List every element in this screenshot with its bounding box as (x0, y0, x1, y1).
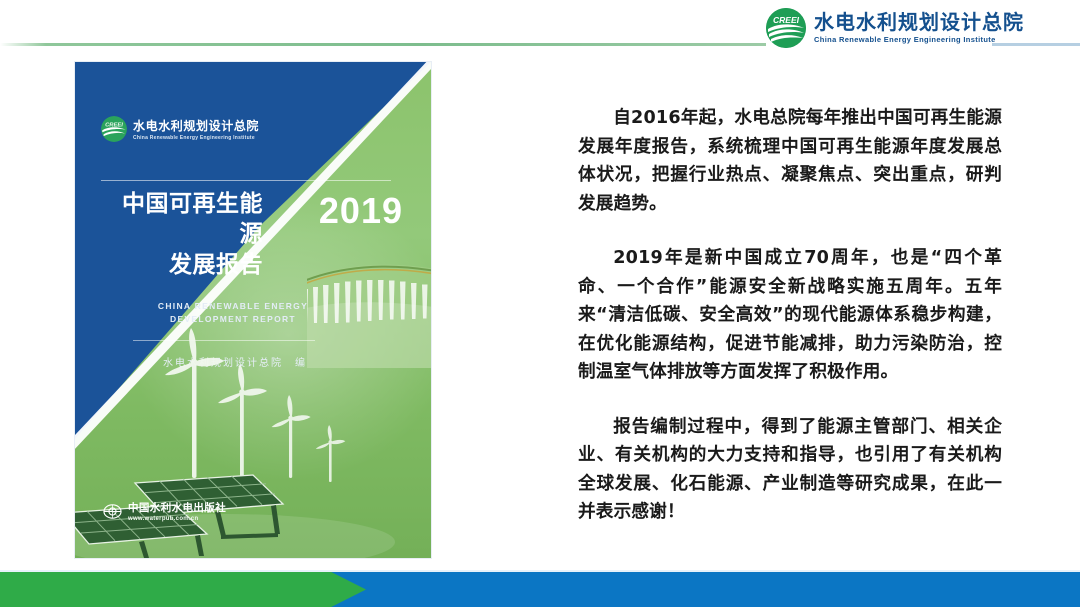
cover-title-divider (101, 180, 391, 181)
cover-subtitle-en-line2: DEVELOPMENT REPORT (75, 313, 391, 326)
publisher-name-cn: 中国水利水电出版社 (128, 500, 226, 515)
footer-bar-green-chevron (0, 572, 366, 607)
slide-root: CREEI 水电水利规划设计总院 China Renewable Energy … (0, 0, 1080, 607)
cover-title-row: 中国可再生能源 发展报告 2019 (103, 188, 403, 279)
publisher-url: www.waterpub.com.cn (128, 516, 226, 522)
paragraph-1: 自2016年起，水电总院每年推出中国可再生能源发展年度报告，系统梳理中国可再生能… (578, 104, 1002, 218)
cover-title-cn: 中国可再生能源 发展报告 (103, 188, 263, 279)
publisher-block: 中国水利水电出版社 www.waterpub.com.cn (103, 500, 226, 522)
header-logo: CREEI 水电水利规划设计总院 China Renewable Energy … (766, 8, 1024, 48)
header-rule-left (0, 43, 766, 46)
svg-text:CREEI: CREEI (773, 15, 800, 25)
book-cover-image: CREEI 水电水利规划设计总院 China Renewable Energy … (75, 62, 431, 558)
cover-logo: CREEI 水电水利规划设计总院 China Renewable Energy … (101, 116, 259, 142)
cover-title-line2: 发展报告 (103, 249, 263, 279)
paragraph-3: 报告编制过程中，得到了能源主管部门、相关企业、有关机构的大力支持和指导，也引用了… (578, 413, 1002, 527)
header-org-name-en: China Renewable Energy Engineering Insti… (814, 36, 1024, 44)
waterpub-press-logo-icon (103, 502, 122, 521)
cover-subtitle-en-line1: CHINA RENEWABLE ENERGY (75, 300, 391, 313)
body-text-column: 自2016年起，水电总院每年推出中国可再生能源发展年度报告，系统梳理中国可再生能… (578, 104, 1002, 553)
cover-subtitle-en: CHINA RENEWABLE ENERGY DEVELOPMENT REPOR… (75, 300, 391, 326)
header-org-name-cn: 水电水利规划设计总院 (814, 13, 1024, 34)
cover-logo-name-cn: 水电水利规划设计总院 (133, 117, 259, 134)
paragraph-2: 2019年是新中国成立70周年，也是“四个革命、一个合作”能源安全新战略实施五周… (578, 244, 1002, 387)
cover-logo-name-en: China Renewable Energy Engineering Insti… (133, 135, 259, 141)
cover-creei-logo-icon: CREEI (101, 116, 127, 142)
creei-logo-icon: CREEI (766, 8, 806, 48)
wind-turbine-icon (316, 425, 346, 482)
cover-year: 2019 (319, 190, 403, 232)
wind-turbine-icon (218, 364, 267, 478)
cover-title-line1: 中国可再生能源 (103, 188, 263, 249)
svg-text:CREEI: CREEI (105, 122, 123, 128)
wind-turbine-icon (272, 395, 311, 478)
renewable-energy-illustration (75, 328, 431, 558)
wind-turbine-icon (165, 328, 224, 478)
